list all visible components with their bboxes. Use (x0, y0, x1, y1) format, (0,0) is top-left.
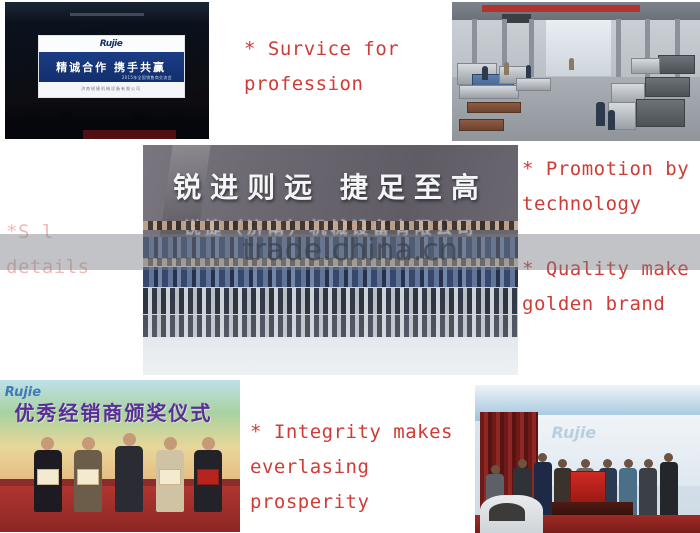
brand-logo-text: Rujie (552, 423, 597, 442)
banner-headline-row: 精诚合作 携手共赢 2015年全国销售商交流会 (39, 52, 184, 81)
red-stage-floor (83, 130, 177, 139)
company-slogan-text: 锐进则远 捷足至高 (143, 166, 518, 206)
caption-promotion-by-technology: * Promotion by technology (522, 152, 689, 222)
brand-logo-text: Rujie (100, 39, 123, 49)
photo-factory-workshop (452, 2, 700, 141)
promo-collage: Rujie 精诚合作 携手共赢 2015年全国销售商交流会 济南锐捷机械设备有限… (0, 0, 700, 533)
photo-meeting-event: Rujie (475, 385, 700, 533)
photo-award-ceremony: Rujie 优秀经销商颁奖仪式 (0, 380, 240, 532)
photo-conference-hall: Rujie 精诚合作 携手共赢 2015年全国销售商交流会 济南锐捷机械设备有限… (5, 2, 209, 139)
overhead-crane-beam (482, 5, 641, 12)
award-recipient (74, 437, 102, 512)
caption-succeed-details: *S l details (6, 215, 90, 285)
workshop-window (546, 20, 610, 76)
ceremony-backdrop-text: 优秀经销商颁奖仪式 (14, 397, 212, 426)
banner-subline-text: 2015年全国销售商交流会 (122, 75, 172, 81)
foreground-person-head (489, 503, 525, 521)
banner-headline-text: 精诚合作 携手共赢 (56, 59, 166, 75)
audience-silhouettes (5, 103, 209, 139)
caption-integrity-makes-prosperity: * Integrity makes everlasing prosperity (250, 415, 453, 520)
photo-company-banner: 锐进则远 捷足至高 锐捷（济南）机械设备有限公司 (143, 145, 518, 375)
caption-service-for-profession: * Survice for profession (244, 32, 399, 102)
lucky-draw-box (570, 471, 606, 504)
banner-footer-text: 济南锐捷机械设备有限公司 (81, 86, 141, 92)
banner-logo-row: Rujie (39, 36, 184, 52)
award-recipient (34, 437, 62, 512)
award-recipient (156, 437, 184, 512)
award-presenter (115, 433, 143, 512)
ceiling-light-strip (70, 13, 143, 16)
led-banner-screen: Rujie 精诚合作 携手共赢 2015年全国销售商交流会 济南锐捷机械设备有限… (38, 35, 185, 98)
banner-footer-row: 济南锐捷机械设备有限公司 (39, 82, 184, 97)
caption-quality-make-golden-brand: * Quality make golden brand (522, 252, 689, 322)
award-recipient (194, 437, 222, 512)
